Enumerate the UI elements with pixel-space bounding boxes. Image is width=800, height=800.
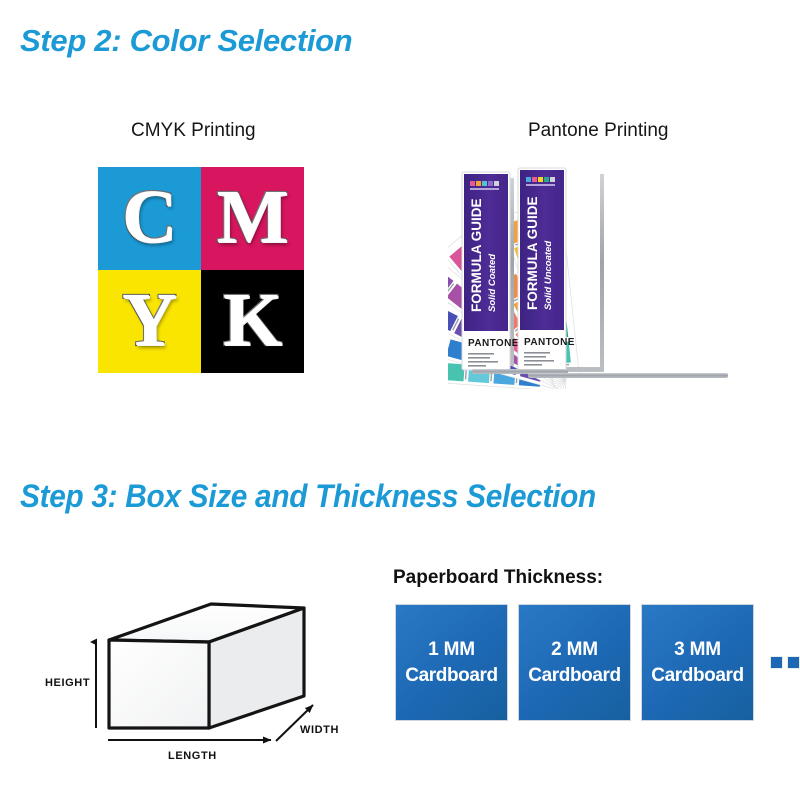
pantone-guide-illustration: FORMULA GUIDE Solid Coated PANTONE xyxy=(448,164,758,389)
guide2-brand: PANTONE xyxy=(524,337,575,348)
cmyk-cell-yellow: Y xyxy=(98,270,201,373)
step2-heading: Step 2: Color Selection xyxy=(20,23,352,59)
length-label: LENGTH xyxy=(168,750,217,762)
pantone-section-title: Pantone Printing xyxy=(528,120,669,142)
guide-base-bar-2 xyxy=(528,373,728,378)
cmyk-swatch-grid: C M Y K xyxy=(98,167,304,373)
thickness-material-1mm: Cardboard xyxy=(405,665,497,687)
cmyk-cell-cyan: C xyxy=(98,167,201,270)
pantone-guide-solid-coated: FORMULA GUIDE Solid Coated PANTONE xyxy=(462,172,519,370)
box-shape xyxy=(109,604,304,728)
infographic-page: Step 2: Color Selection CMYK Printing Pa… xyxy=(0,0,800,800)
thickness-value-1mm: 1 MM xyxy=(428,639,475,661)
thickness-option-3mm[interactable]: 3 MM Cardboard xyxy=(641,604,754,721)
thickness-value-2mm: 2 MM xyxy=(551,639,598,661)
thickness-material-2mm: Cardboard xyxy=(528,665,620,687)
guide1-subtitle: Solid Coated xyxy=(487,254,498,312)
guide1-brand: PANTONE xyxy=(468,338,519,349)
cmyk-section-title: CMYK Printing xyxy=(131,120,256,142)
cmyk-letter-y: Y xyxy=(122,282,177,358)
width-label: WIDTH xyxy=(300,724,339,736)
cmyk-letter-m: M xyxy=(217,179,289,255)
thickness-value-3mm: 3 MM xyxy=(674,639,721,661)
guide1-title: FORMULA GUIDE xyxy=(469,199,484,313)
ellipsis-square-1 xyxy=(770,656,783,669)
thickness-material-3mm: Cardboard xyxy=(651,665,743,687)
cmyk-letter-c: C xyxy=(122,179,177,255)
cmyk-cell-magenta: M xyxy=(201,167,304,270)
cmyk-cell-black: K xyxy=(201,270,304,373)
pantone-guide-solid-uncoated: FORMULA GUIDE Solid Uncoated PANTONE xyxy=(518,168,575,372)
paperboard-thickness-options: 1 MM Cardboard 2 MM Cardboard 3 MM Cardb… xyxy=(395,604,800,721)
cmyk-letter-k: K xyxy=(223,282,282,358)
height-label: HEIGHT xyxy=(45,677,90,689)
ellipsis-square-2 xyxy=(787,656,800,669)
paperboard-thickness-title: Paperboard Thickness: xyxy=(393,567,603,589)
step3-heading: Step 3: Box Size and Thickness Selection xyxy=(20,478,596,515)
box-dimension-diagram: HEIGHT LENGTH WIDTH xyxy=(28,578,368,764)
more-options-ellipsis-icon xyxy=(770,656,800,669)
guide2-subtitle: Solid Uncoated xyxy=(543,241,554,310)
thickness-option-1mm[interactable]: 1 MM Cardboard xyxy=(395,604,508,721)
guide2-title: FORMULA GUIDE xyxy=(525,197,540,311)
thickness-option-2mm[interactable]: 2 MM Cardboard xyxy=(518,604,631,721)
